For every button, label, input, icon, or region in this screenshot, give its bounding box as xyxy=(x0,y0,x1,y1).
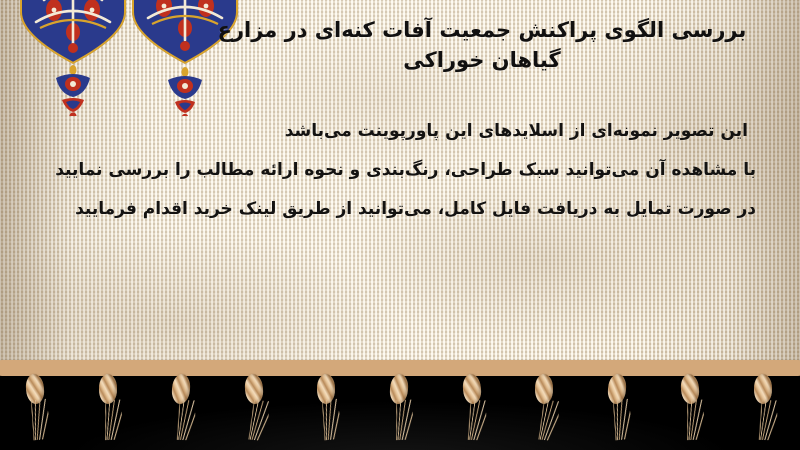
fringe-strands xyxy=(386,400,413,441)
fringe-strands xyxy=(21,399,51,441)
slide-body: این تصویر نمونه‌ای از اسلایدهای این پاور… xyxy=(40,112,758,229)
fringe-strands xyxy=(312,399,342,441)
fringe-strands xyxy=(530,399,560,441)
carpet-fringe-region xyxy=(0,340,800,450)
fringe-strands xyxy=(677,400,704,441)
presentation-slide: بررسی الگوی پراکنش جمعیت آفات کنه‌ای در … xyxy=(0,0,800,450)
fringe-strands xyxy=(240,399,270,441)
body-line-1: این تصویر نمونه‌ای از اسلایدهای این پاور… xyxy=(40,112,758,151)
fringe-strands xyxy=(603,399,633,441)
body-line-3: در صورت تمایل به دریافت فایل کامل، می‌تو… xyxy=(40,190,758,229)
fringe-strands xyxy=(459,400,486,441)
fringe-strands xyxy=(168,400,195,441)
fringe-strands xyxy=(95,400,122,441)
fringe-strands xyxy=(750,400,777,441)
page-title: بررسی الگوی پراکنش جمعیت آفات کنه‌ای در … xyxy=(202,16,762,76)
body-line-2: با مشاهده آن می‌توانید سبک طراحی، رنگ‌بن… xyxy=(40,151,758,190)
